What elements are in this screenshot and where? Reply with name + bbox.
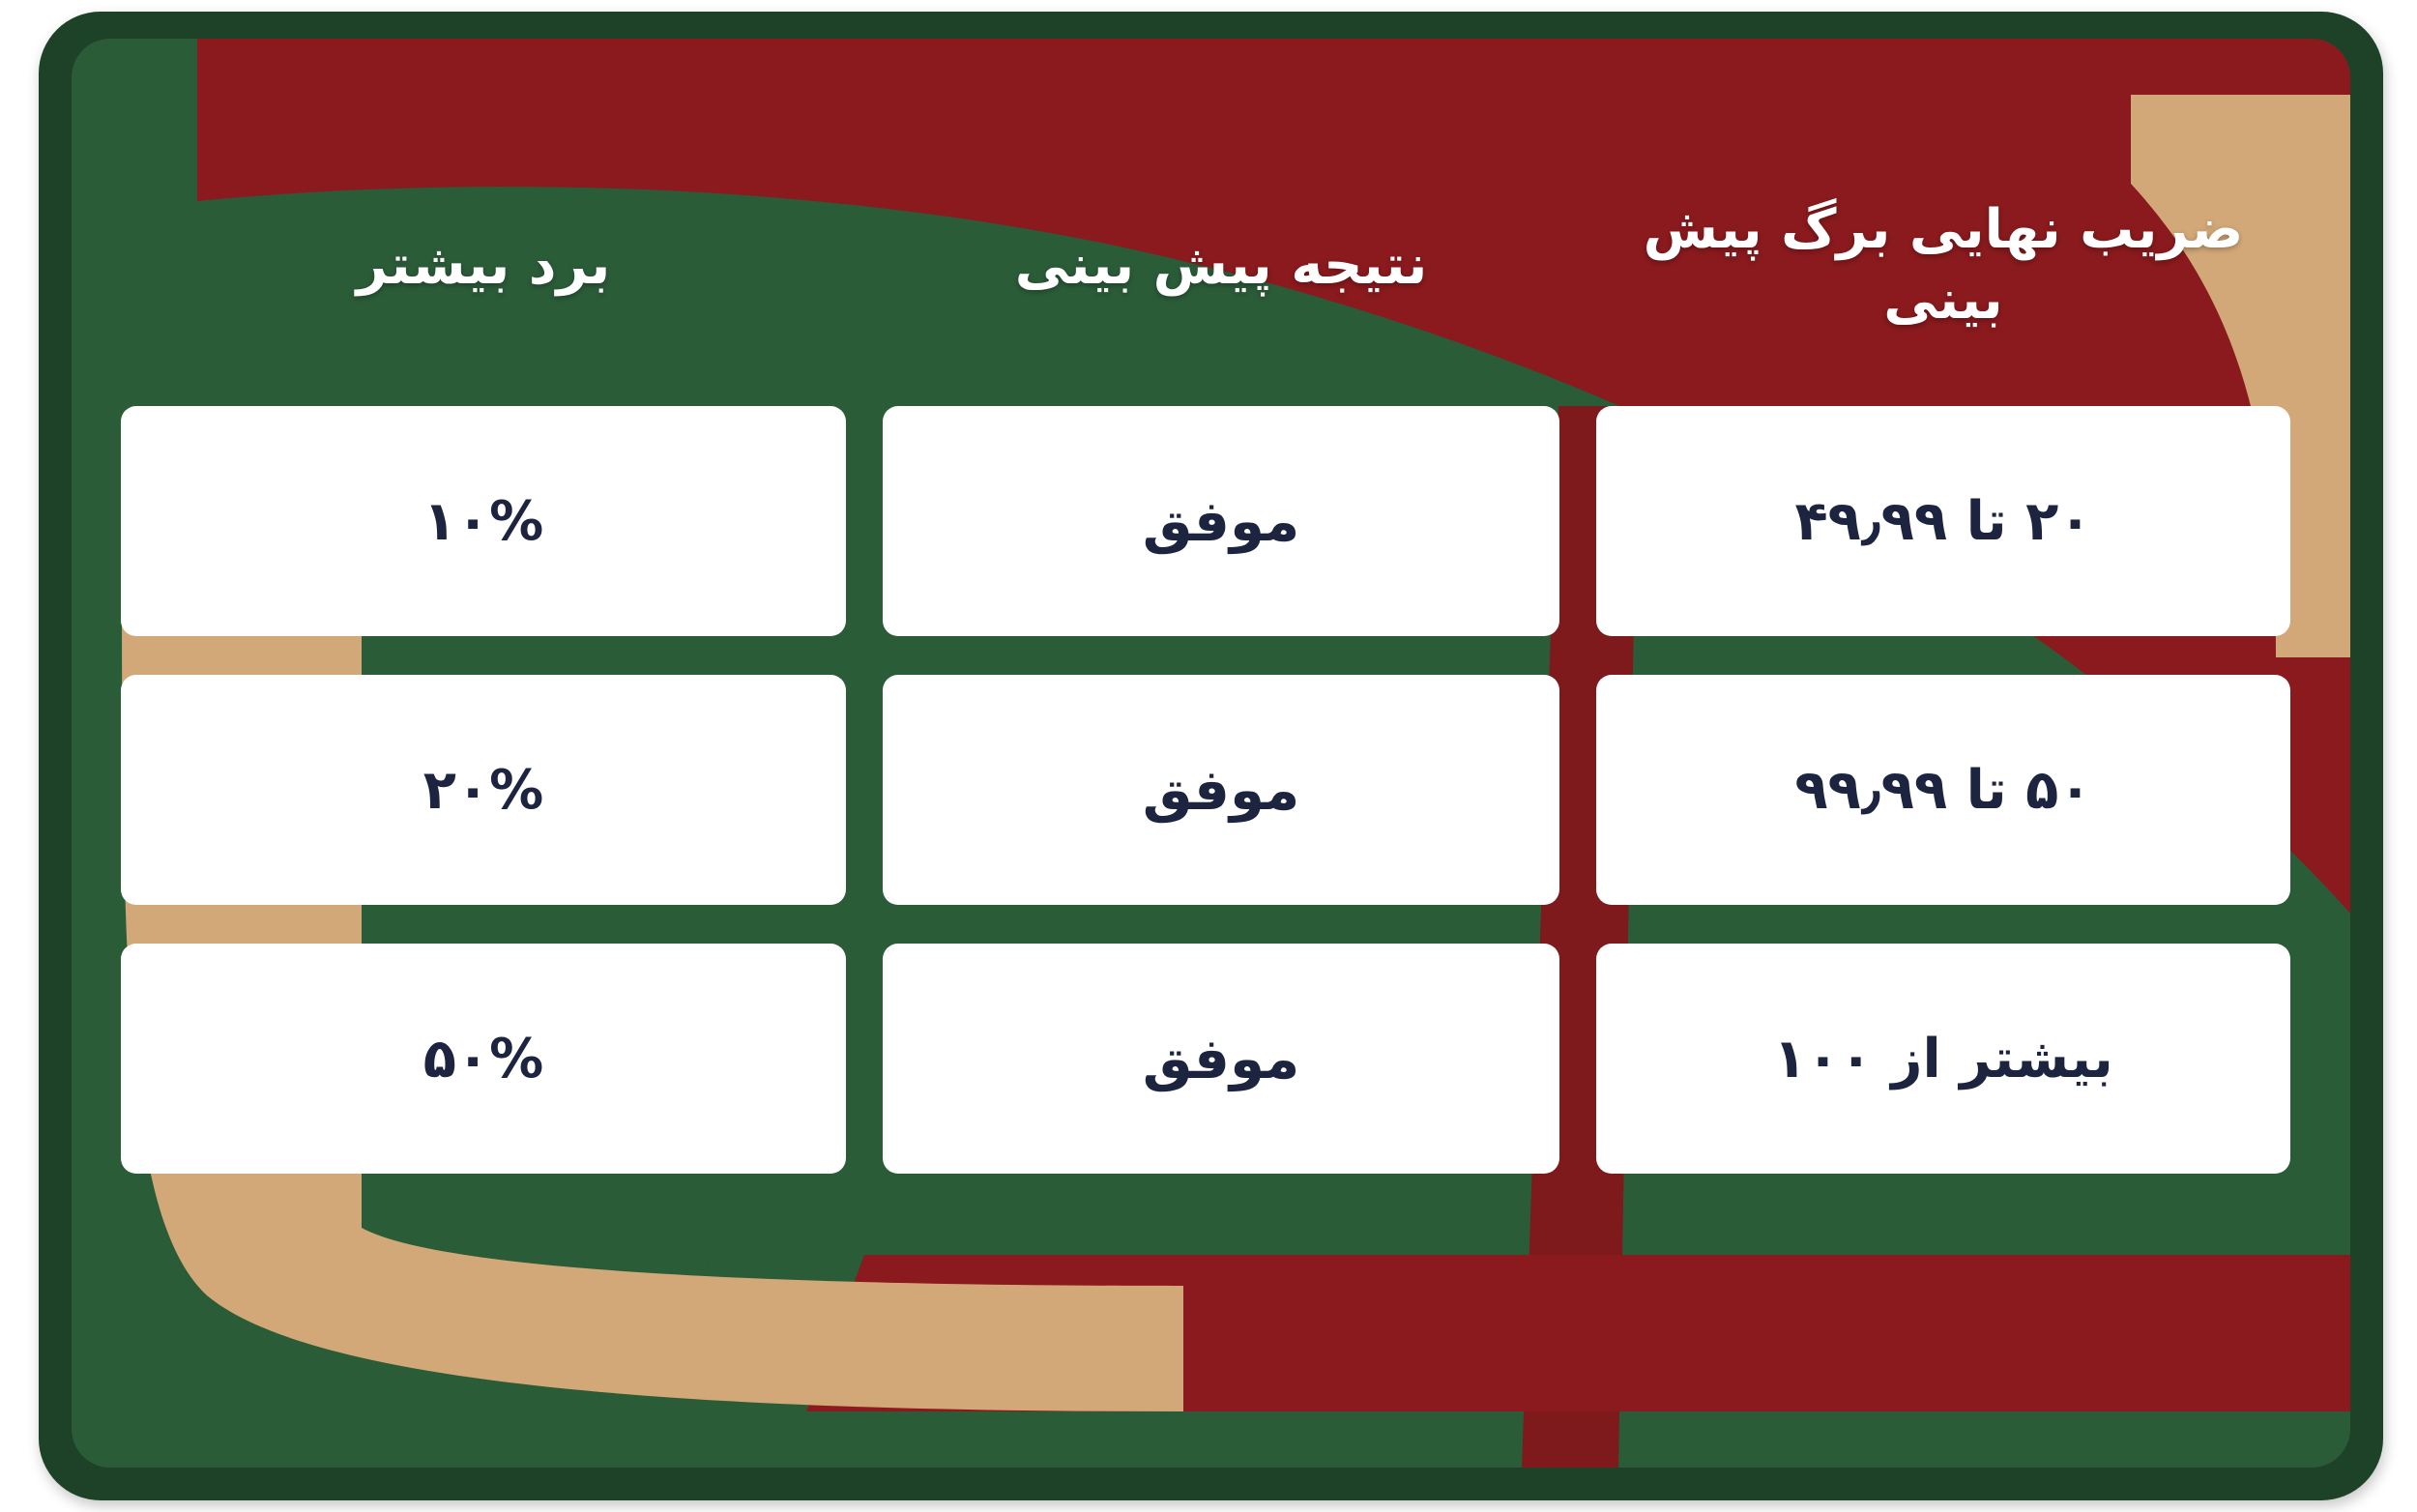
cell-bonus-percent: ۲۰% — [121, 675, 846, 905]
cell-coefficient-range: ۲۰ تا ۴۹٫۹۹ — [1596, 406, 2290, 636]
cell-prediction-result: موفق — [883, 944, 1559, 1174]
rewards-table: ضریب نهایی برگ پیش بینی نتیجه پیش بینی ب… — [72, 39, 2350, 1468]
cell-prediction-result: موفق — [883, 675, 1559, 905]
cell-bonus-percent: ۵۰% — [121, 944, 846, 1174]
table-row: ۵۰ تا ۹۹٫۹۹ موفق ۲۰% — [72, 675, 2350, 905]
promo-card: ضریب نهایی برگ پیش بینی نتیجه پیش بینی ب… — [39, 12, 2383, 1500]
column-header-prediction-result: نتیجه پیش بینی — [883, 155, 1559, 377]
screenshot-root: ضریب نهایی برگ پیش بینی نتیجه پیش بینی ب… — [0, 0, 2417, 1512]
table-row: ۲۰ تا ۴۹٫۹۹ موفق ۱۰% — [72, 406, 2350, 636]
column-header-final-coefficient: ضریب نهایی برگ پیش بینی — [1596, 155, 2290, 377]
cell-bonus-percent: ۱۰% — [121, 406, 846, 636]
cell-prediction-result: موفق — [883, 406, 1559, 636]
table-row: بیشتر از ۱۰۰ موفق ۵۰% — [72, 944, 2350, 1174]
promo-card-inner: ضریب نهایی برگ پیش بینی نتیجه پیش بینی ب… — [72, 39, 2350, 1468]
column-header-extra-win: برد بیشتر — [121, 155, 846, 377]
cell-coefficient-range: بیشتر از ۱۰۰ — [1596, 944, 2290, 1174]
table-header-row: ضریب نهایی برگ پیش بینی نتیجه پیش بینی ب… — [72, 155, 2350, 377]
cell-coefficient-range: ۵۰ تا ۹۹٫۹۹ — [1596, 675, 2290, 905]
